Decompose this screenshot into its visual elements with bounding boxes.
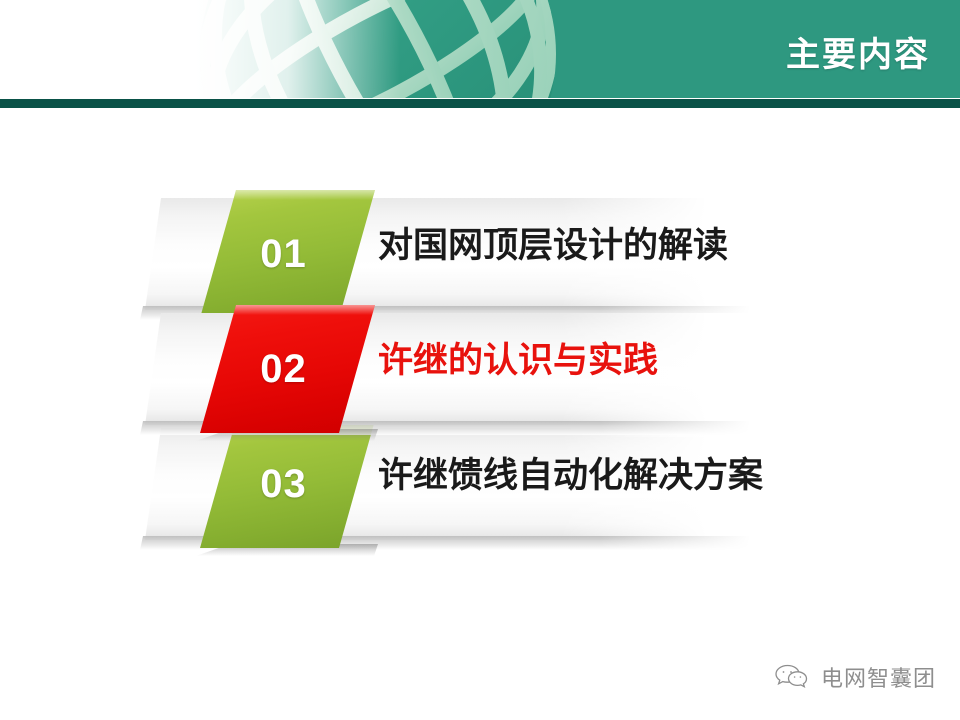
agenda-item-label: 对国网顶层设计的解读 (378, 228, 728, 263)
row-ledge-fade (600, 421, 800, 437)
slide-canvas: 主要内容 01 对国网顶层设计的解读 02 (0, 0, 960, 720)
header-underline (0, 99, 960, 108)
agenda-number: 01 (260, 234, 307, 274)
globe-graphic (150, 0, 570, 98)
watermark: 电网智囊团 (772, 661, 936, 696)
agenda-item-label: 许继的认识与实践 (378, 343, 658, 378)
row-ledge-fade (600, 536, 800, 552)
wechat-icon (772, 661, 812, 696)
agenda-list: 01 对国网顶层设计的解读 02 许继的认识与实践 (0, 0, 960, 720)
agenda-item-label: 许继馈线自动化解决方案 (378, 458, 763, 493)
watermark-text: 电网智囊团 (821, 668, 936, 690)
agenda-number: 02 (260, 349, 307, 389)
page-title: 主要内容 (786, 38, 930, 72)
agenda-item-02[interactable]: 02 许继的认识与实践 (0, 305, 960, 455)
agenda-number: 03 (260, 464, 307, 504)
